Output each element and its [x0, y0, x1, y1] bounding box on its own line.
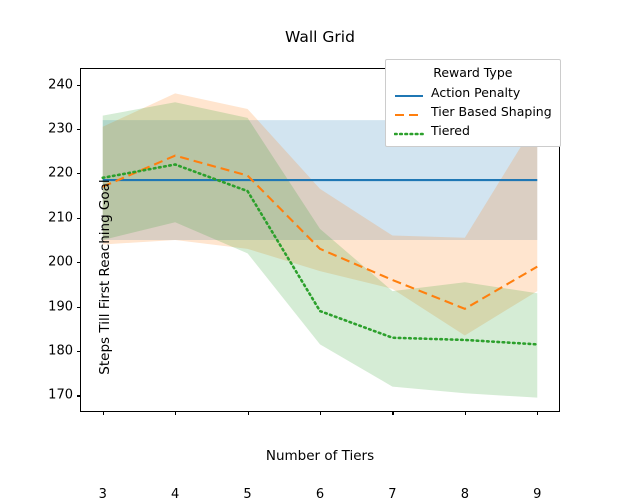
legend-label: Tiered [431, 123, 470, 138]
legend-line-swatch [394, 125, 424, 137]
y-tick-label: 210 [48, 210, 73, 225]
x-tick-mark [392, 411, 393, 415]
chart-figure: Wall Grid 170180190200210220230240 34567… [0, 0, 640, 480]
y-tick-mark [77, 395, 81, 396]
legend-line-swatch [394, 106, 424, 118]
x-tick-label: 5 [243, 487, 251, 502]
x-axis-label: Number of Tiers [0, 448, 640, 464]
legend-line-swatch [394, 87, 424, 99]
y-tick-mark [77, 307, 81, 308]
legend-label: Action Penalty [431, 85, 520, 100]
legend-item[interactable]: Action Penalty [394, 83, 552, 102]
y-tick-label: 180 [48, 344, 73, 359]
y-axis-label: Steps Till First Reaching Goal [97, 77, 113, 477]
legend-item[interactable]: Tier Based Shaping [394, 102, 552, 121]
x-tick-mark [320, 411, 321, 415]
y-tick-label: 190 [48, 299, 73, 314]
y-tick-mark [77, 173, 81, 174]
y-tick-label: 220 [48, 166, 73, 181]
x-tick-label: 7 [388, 487, 396, 502]
x-tick-label: 6 [316, 487, 324, 502]
x-tick-label: 3 [99, 487, 107, 502]
y-tick-mark [77, 262, 81, 263]
legend-entries: Action PenaltyTier Based ShapingTiered [394, 83, 552, 140]
chart-legend: Reward Type Action PenaltyTier Based Sha… [385, 59, 561, 147]
legend-title: Reward Type [394, 65, 552, 80]
legend-label: Tier Based Shaping [431, 104, 552, 119]
x-tick-mark [175, 411, 176, 415]
legend-item[interactable]: Tiered [394, 121, 552, 140]
x-tick-label: 4 [171, 487, 179, 502]
y-tick-label: 230 [48, 121, 73, 136]
x-tick-label: 9 [533, 487, 541, 502]
x-tick-label: 8 [461, 487, 469, 502]
x-tick-mark [537, 411, 538, 415]
y-tick-mark [77, 85, 81, 86]
chart-title: Wall Grid [0, 28, 640, 46]
y-tick-label: 170 [48, 388, 73, 403]
y-tick-mark [77, 351, 81, 352]
x-tick-mark [465, 411, 466, 415]
y-tick-mark [77, 129, 81, 130]
x-tick-mark [248, 411, 249, 415]
y-tick-label: 240 [48, 77, 73, 92]
y-tick-label: 200 [48, 255, 73, 270]
y-tick-mark [77, 218, 81, 219]
